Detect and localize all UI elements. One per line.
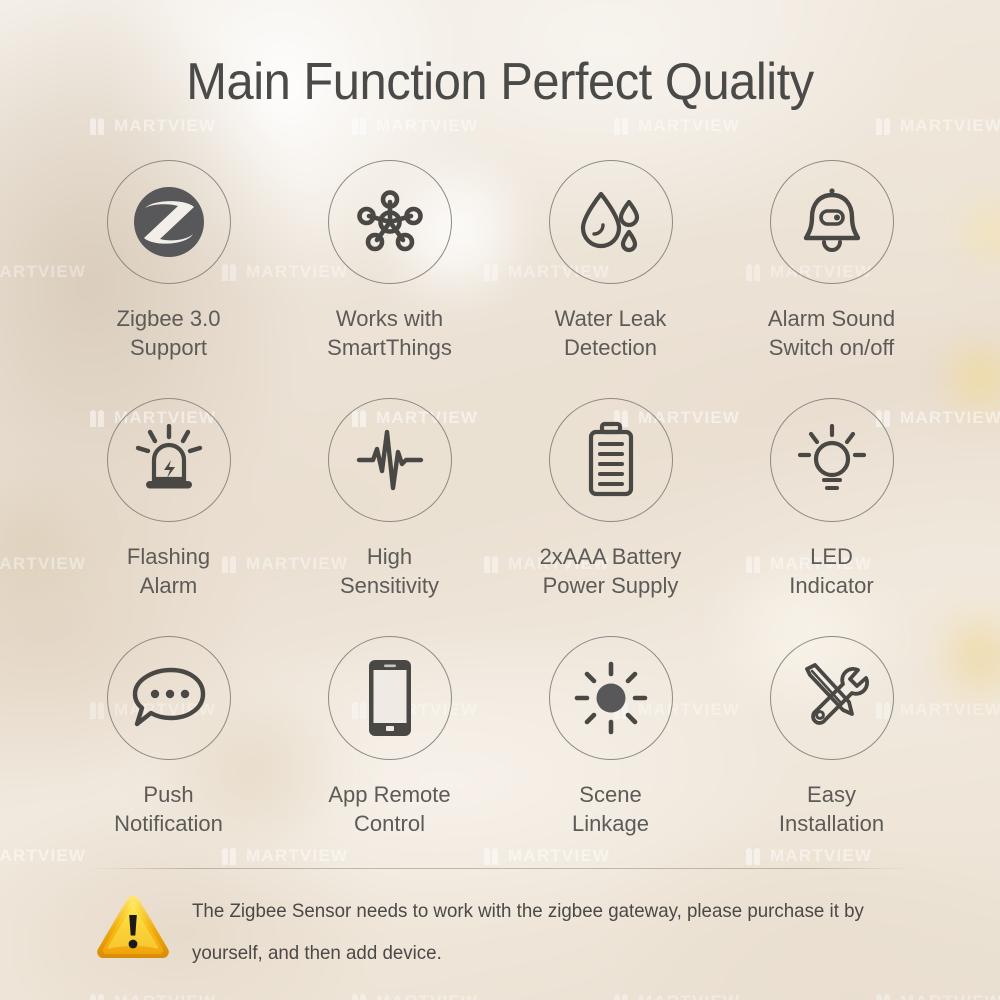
feature-label: 2xAAA Battery Power Supply [540, 542, 682, 600]
feature-label: Scene Linkage [572, 780, 649, 838]
feature-item-flashing-alarm: Flashing Alarm [58, 398, 279, 636]
waveform-pulse-icon [328, 398, 452, 522]
feature-item-led-indicator: LED Indicator [721, 398, 942, 636]
feature-label: Alarm Sound Switch on/off [768, 304, 895, 362]
water-droplet-icon [549, 160, 673, 284]
smartphone-icon [328, 636, 452, 760]
infographic-page: Main Function Perfect Quality Zigbee 3.0… [0, 0, 1000, 1000]
feature-label: Water Leak Detection [555, 304, 667, 362]
feature-label: Works with SmartThings [327, 304, 452, 362]
feature-label: LED Indicator [789, 542, 873, 600]
speech-bubble-dots-icon [107, 636, 231, 760]
feature-label: High Sensitivity [340, 542, 439, 600]
feature-item-easy-installation: Easy Installation [721, 636, 942, 874]
warning-triangle-icon [96, 894, 170, 965]
network-hub-icon [328, 160, 452, 284]
siren-beacon-icon [107, 398, 231, 522]
feature-label: Flashing Alarm [127, 542, 210, 600]
battery-icon [549, 398, 673, 522]
feature-item-scene-linkage: Scene Linkage [500, 636, 721, 874]
feature-item-alarm-sound-switch: Alarm Sound Switch on/off [721, 160, 942, 398]
footer-note: The Zigbee Sensor needs to work with the… [96, 890, 940, 974]
light-bulb-icon [770, 398, 894, 522]
feature-label: App Remote Control [328, 780, 450, 838]
feature-item-app-remote-control: App Remote Control [279, 636, 500, 874]
feature-item-works-smartthings: Works with SmartThings [279, 160, 500, 398]
sun-icon [549, 636, 673, 760]
bell-toggle-icon [770, 160, 894, 284]
feature-grid: Zigbee 3.0 Support Works [58, 160, 942, 874]
feature-label: Push Notification [114, 780, 223, 838]
feature-item-high-sensitivity: High Sensitivity [279, 398, 500, 636]
zigbee-logo-icon [107, 160, 231, 284]
footer-note-text: The Zigbee Sensor needs to work with the… [192, 890, 910, 974]
feature-item-push-notification: Push Notification [58, 636, 279, 874]
footer-divider [90, 868, 910, 869]
feature-label: Zigbee 3.0 Support [117, 304, 221, 362]
feature-item-zigbee-support: Zigbee 3.0 Support [58, 160, 279, 398]
feature-item-water-leak: Water Leak Detection [500, 160, 721, 398]
feature-label: Easy Installation [779, 780, 884, 838]
tools-wrench-screwdriver-icon [770, 636, 894, 760]
page-title: Main Function Perfect Quality [30, 52, 970, 112]
feature-item-battery-power: 2xAAA Battery Power Supply [500, 398, 721, 636]
